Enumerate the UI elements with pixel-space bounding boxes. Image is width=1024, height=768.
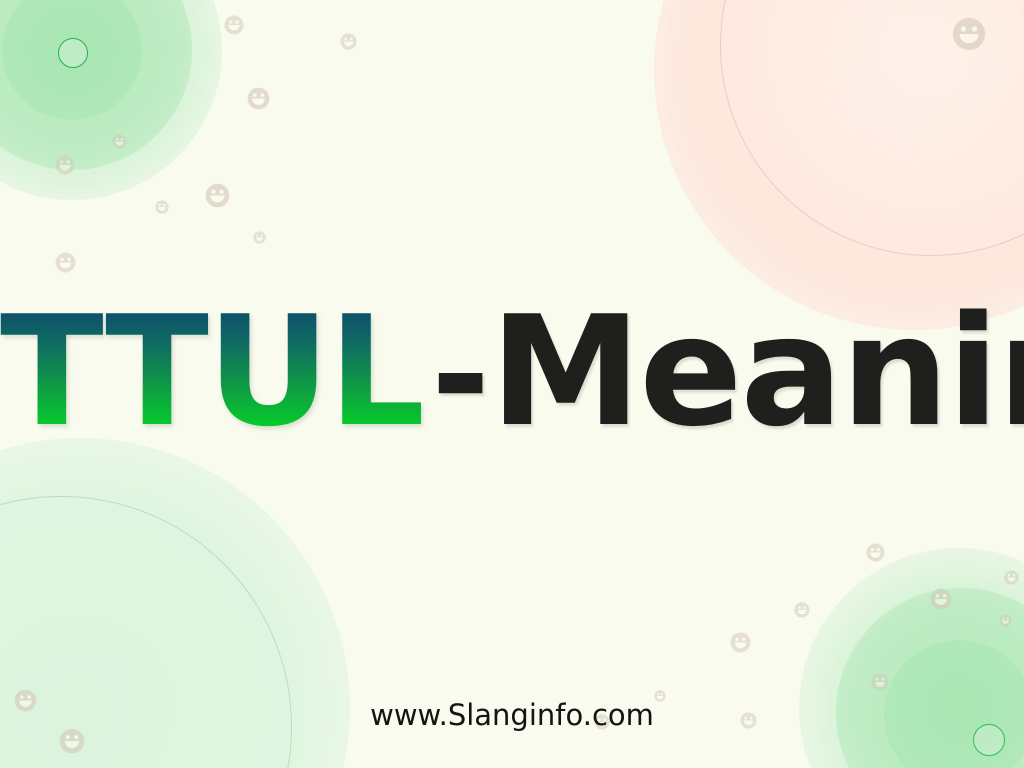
- smiley-face-icon: [866, 543, 885, 562]
- smiley-face-icon: [794, 602, 810, 618]
- smiley-face-icon: [952, 17, 986, 51]
- bottom-right-green-glow: [799, 548, 1024, 768]
- title-card: TTUL-Meaning www.Slanginfo.com: [0, 0, 1024, 768]
- title-acronym: TTUL: [0, 283, 423, 460]
- smiley-face-icon: [205, 183, 230, 208]
- top-left-ring-outer: [0, 0, 192, 170]
- smiley-face-icon: [247, 87, 270, 110]
- smiley-face-icon: [155, 200, 169, 214]
- smiley-face-icon: [1004, 570, 1019, 585]
- smiley-face-icon: [224, 15, 244, 35]
- bottom-right-ring-outer: [836, 588, 1024, 768]
- title-subject: Meaning: [490, 283, 1024, 460]
- website-url: www.Slanginfo.com: [370, 698, 654, 732]
- smiley-face-icon: [730, 632, 751, 653]
- smiley-face-icon: [930, 588, 952, 610]
- title-separator: -: [423, 293, 490, 458]
- smiley-face-icon: [340, 33, 357, 50]
- smiley-face-icon: [253, 231, 266, 244]
- smiley-face-icon: [871, 673, 889, 691]
- footer: www.Slanginfo.com: [0, 698, 1024, 732]
- top-left-ring-inner: [2, 0, 142, 120]
- smiley-face-icon: [55, 252, 76, 273]
- page-title: TTUL-Meaning: [0, 296, 1024, 448]
- top-left-core-circle-icon: [58, 38, 88, 68]
- smiley-face-icon: [112, 134, 127, 149]
- top-left-green-glow: [0, 0, 222, 200]
- smiley-face-icon: [999, 614, 1012, 627]
- smiley-face-icon: [55, 155, 75, 175]
- top-right-ring-outline: [720, 0, 1024, 256]
- top-right-peach-glow: [654, 0, 1024, 330]
